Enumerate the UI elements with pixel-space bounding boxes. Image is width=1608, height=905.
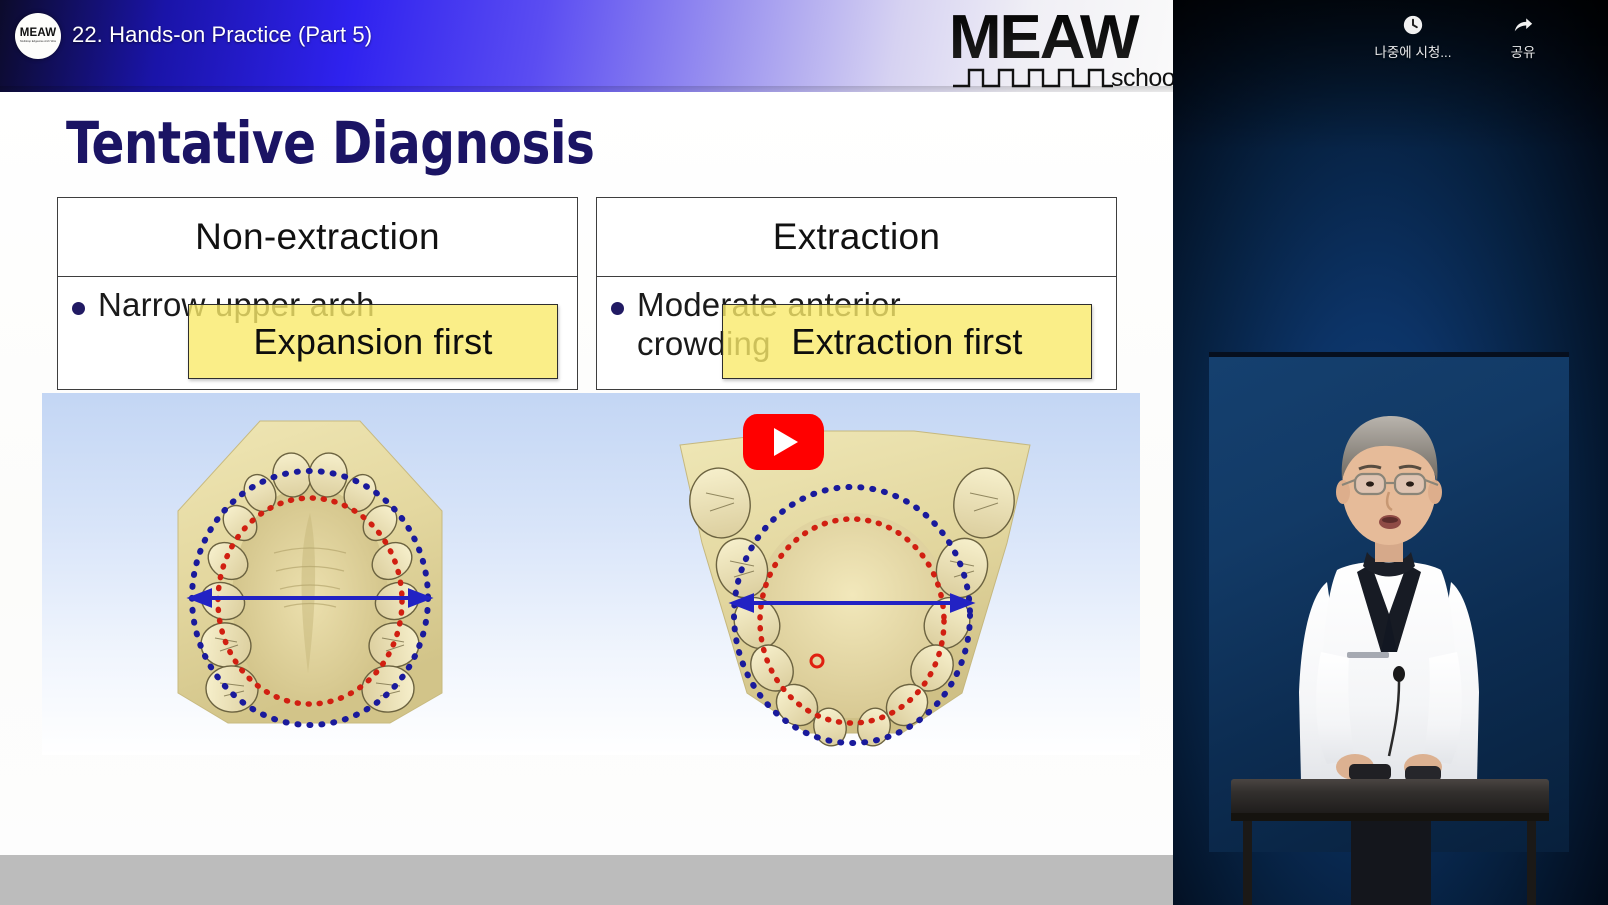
watch-later-button[interactable]: 나중에 시청...: [1353, 14, 1473, 61]
callout-expansion-first: Expansion first: [188, 304, 558, 379]
badge-sublabel: Multiloop Edgewise Arch Wire: [20, 41, 56, 44]
presentation-slide: Tentative Diagnosis Non-extraction Narro…: [0, 92, 1173, 855]
bullet-dot-icon: [72, 302, 85, 315]
player-bottom-bar[interactable]: [0, 855, 1173, 905]
column-heading-extraction: Extraction: [597, 198, 1116, 277]
callout-extraction-first: Extraction first: [722, 304, 1092, 379]
svg-text:school: school: [1111, 64, 1173, 92]
badge-label: MEAW: [20, 28, 57, 40]
clock-icon: [1402, 14, 1424, 36]
column-heading-non-extraction: Non-extraction: [58, 198, 577, 277]
share-button[interactable]: 공유: [1483, 14, 1563, 61]
youtube-play-button[interactable]: [743, 414, 824, 470]
meaw-school-wordmark-svg: MEAW school: [953, 0, 1173, 92]
bullet-dot-icon: [611, 302, 624, 315]
video-player-region[interactable]: MEAW Multiloop Edgewise Arch Wire 22. Ha…: [0, 0, 1173, 905]
instructor-figure: [1209, 352, 1569, 905]
slide-title: Tentative Diagnosis: [66, 109, 594, 177]
screen-root: MEAW Multiloop Edgewise Arch Wire 22. Ha…: [0, 0, 1608, 905]
lower-arch-dental-cast: [602, 393, 1102, 755]
meaw-badge-logo: MEAW Multiloop Edgewise Arch Wire: [15, 13, 61, 59]
dental-cast-image-block: [42, 393, 1140, 755]
watch-later-label: 나중에 시청...: [1374, 41, 1451, 61]
play-triangle-icon: [774, 428, 798, 456]
upper-arch-dental-cast: [60, 393, 560, 755]
share-label: 공유: [1511, 41, 1536, 61]
svg-text:MEAW: MEAW: [953, 3, 1140, 72]
meaw-school-wordmark: MEAW school: [953, 0, 1173, 92]
share-arrow-icon: [1512, 14, 1534, 36]
video-title: 22. Hands-on Practice (Part 5): [72, 22, 372, 48]
instructor-camera-panel: 나중에 시청... 공유: [1173, 0, 1608, 905]
